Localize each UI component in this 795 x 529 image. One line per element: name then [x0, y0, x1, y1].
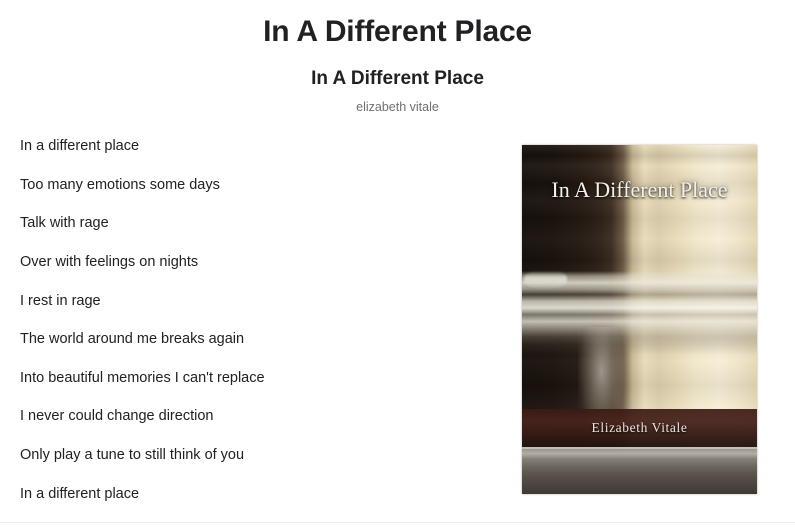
cover-highlight-spot	[524, 271, 566, 288]
lyric-line: I rest in rage	[20, 294, 520, 333]
lyric-line: The world around me breaks again	[20, 332, 520, 371]
song-title: In A Different Place	[0, 68, 795, 91]
cover-artist-text: Elizabeth Vitale	[522, 420, 757, 436]
song-lyrics-page: In A Different Place In A Different Plac…	[0, 0, 795, 529]
footer-divider	[0, 522, 795, 523]
page-title: In A Different Place	[0, 13, 795, 51]
lyric-line: Over with feelings on nights	[20, 255, 520, 294]
lyric-line: Only play a tune to still think of you	[20, 448, 520, 487]
lyric-line: In a different place	[20, 139, 520, 178]
lyric-line: I never could change direction	[20, 409, 520, 448]
lyric-line: Into beautiful memories I can't replace	[20, 371, 520, 410]
lyric-line: Talk with rage	[20, 216, 520, 255]
album-cover-image: In A Different Place Elizabeth Vitale	[522, 145, 757, 494]
cover-title-text: In A Different Place	[522, 173, 757, 207]
page-header: In A Different Place In A Different Plac…	[0, 0, 795, 115]
lyrics-block: In a different place Too many emotions s…	[20, 139, 520, 525]
lyric-line: In a different place	[20, 487, 520, 526]
artist-byline: elizabeth vitale	[0, 100, 795, 115]
lyric-line: Too many emotions some days	[20, 178, 520, 217]
cover-floor	[522, 449, 757, 494]
album-cover-artwork: In A Different Place Elizabeth Vitale	[522, 145, 757, 494]
